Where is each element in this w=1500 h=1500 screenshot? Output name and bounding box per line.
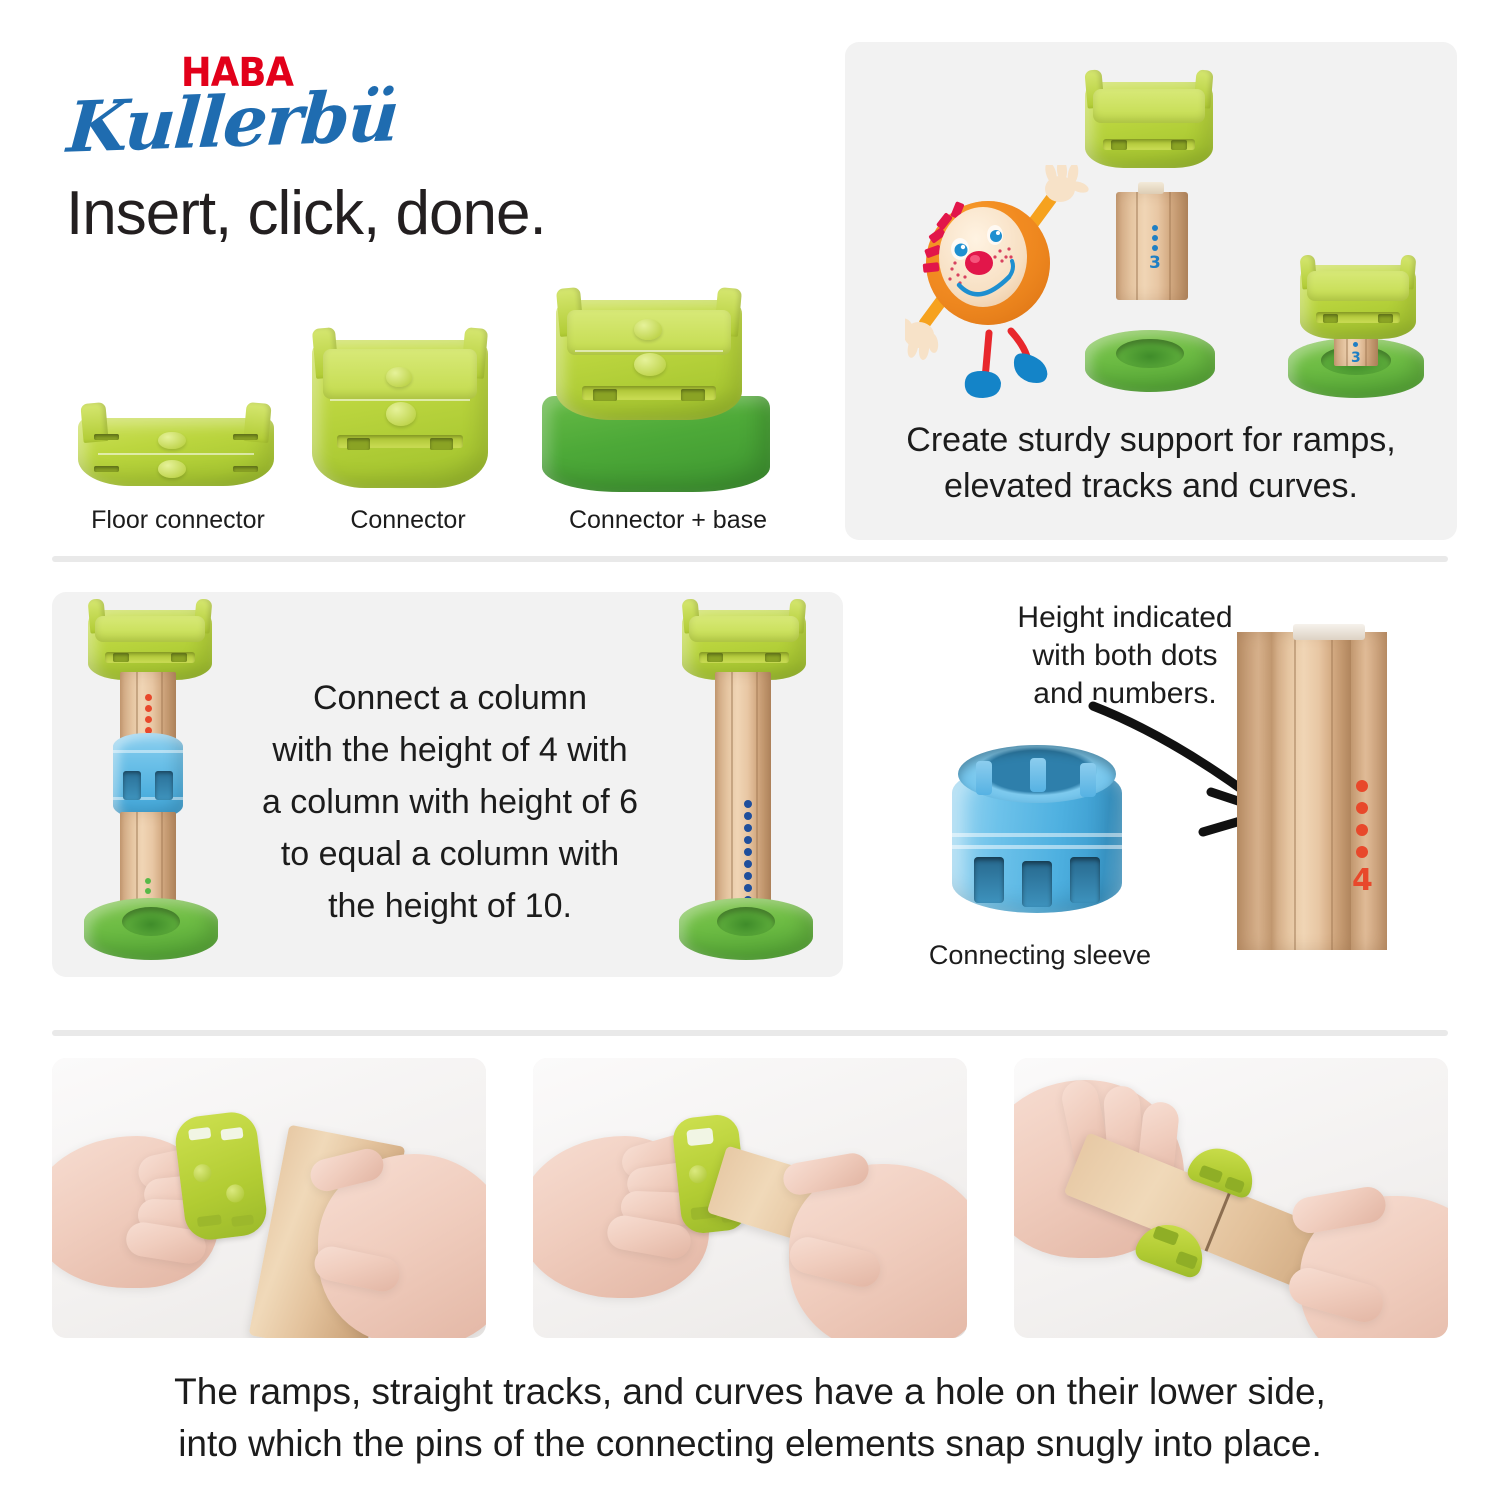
support-connector-icon: [1085, 82, 1213, 168]
footer-caption-line2: into which the pins of the connecting el…: [60, 1420, 1440, 1468]
support-caption-line2: elevated tracks and curves.: [862, 464, 1440, 508]
photo-connector-snapped-on-track: [533, 1058, 967, 1338]
connecting-sleeve-icon: [952, 745, 1122, 930]
math-caption-line3: a column with height of 6: [215, 780, 685, 824]
height-column-marks: 4: [1352, 780, 1373, 896]
photo-two-tracks-joined: [1014, 1058, 1448, 1338]
divider-bottom: [52, 1030, 1448, 1036]
kullerbue-character-icon: [905, 165, 1105, 405]
part-label-connector: Connector: [268, 504, 548, 536]
height-column-number: 4: [1352, 866, 1373, 896]
left-column-connecting-sleeve: [113, 733, 183, 819]
floor-connector-icon: [78, 418, 274, 486]
support-caption-line1: Create sturdy support for ramps,: [862, 418, 1440, 462]
connector-plus-base-icon: [556, 300, 742, 420]
page-title: Insert, click, done.: [66, 178, 546, 249]
brand-lockup: HABA Kullerbü: [68, 48, 488, 168]
footer-caption-line1: The ramps, straight tracks, and curves h…: [60, 1368, 1440, 1416]
left-column-top-connector-icon: [88, 610, 212, 680]
kullerbu-wordmark: Kullerbü: [65, 74, 400, 168]
math-caption-line4: to equal a column with: [215, 832, 685, 876]
connecting-sleeve-label: Connecting sleeve: [900, 938, 1180, 973]
math-caption-line1: Connect a column: [230, 676, 670, 720]
right-column-base: [679, 898, 813, 960]
connector-icon: [312, 340, 488, 488]
math-caption-line2: with the height of 4 with: [215, 728, 685, 772]
divider-top: [52, 556, 1448, 562]
right-column-top-connector-icon: [682, 610, 806, 680]
math-caption-line5: the height of 10.: [230, 884, 670, 928]
infographic-page: HABA Kullerbü Insert, click, done.: [0, 0, 1500, 1500]
support-column-height-marks: 3: [1149, 225, 1161, 272]
support-column-number: 3: [1149, 255, 1161, 272]
support-assembled-connector-icon: [1300, 265, 1416, 339]
photo-holding-connector-and-track: [52, 1058, 486, 1338]
left-column-base: [84, 898, 218, 960]
support-assembled-number: 3: [1351, 351, 1361, 365]
part-label-connector-base: Connector + base: [518, 504, 818, 536]
